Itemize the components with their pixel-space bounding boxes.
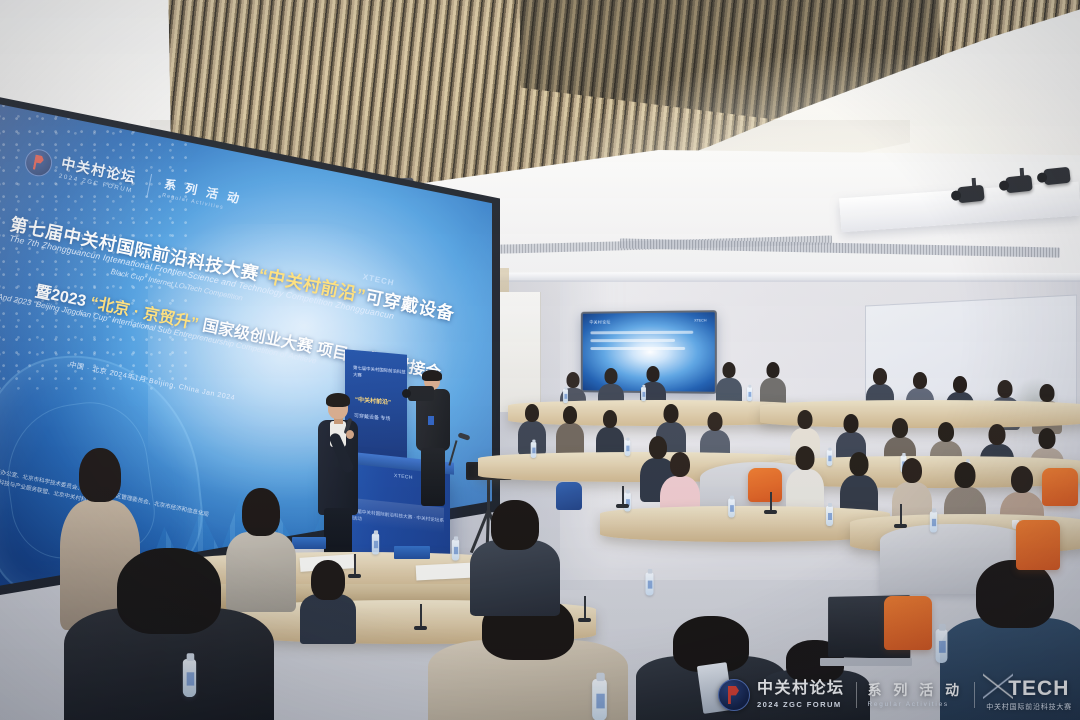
led-headline-tail: 可穿戴设备 [364, 286, 457, 324]
program-booklet [292, 537, 326, 549]
spotlight-icon [1043, 167, 1071, 186]
document-paper [416, 562, 475, 580]
water-bottle [531, 442, 537, 458]
rollup-line-1: 第七届中关村国际前沿科技大赛 [353, 364, 407, 383]
water-bottle [826, 506, 833, 526]
led-brand-lockup: 中关村论坛 2024 ZGC FORUM 系 列 活 动 Regular Act… [23, 147, 244, 217]
chair [1042, 468, 1078, 506]
water-bottle [624, 493, 631, 512]
audience-person [760, 362, 786, 406]
watermark-series-lockup: 系 列 活 动 Regular Activities [868, 683, 964, 708]
operator-hair [422, 370, 442, 381]
audience-person [596, 410, 624, 458]
watermark-zgc-lockup: 中关村论坛 2024 ZGC FORUM [718, 679, 845, 711]
audience-person [556, 406, 584, 454]
conference-hall-photo: 中关村论坛 2024 ZGC FORUM 系 列 活 动 Regular Act… [0, 0, 1080, 720]
watermark-series-cn: 系 列 活 动 [868, 683, 964, 697]
chair [556, 482, 582, 510]
foreground-person [300, 560, 356, 640]
water-bottle [747, 387, 752, 401]
watermark-logo-bar: 中关村论坛 2024 ZGC FORUM 系 列 活 动 Regular Act… [718, 678, 1072, 712]
camera-operator [412, 372, 458, 512]
watermark-series-en: Regular Activities [868, 701, 964, 708]
xtech-sub-cn: 中关村国际前沿科技大赛 [986, 702, 1072, 712]
water-bottle [827, 450, 833, 466]
water-bottle [372, 534, 379, 555]
program-booklet [394, 546, 430, 559]
spotlight-icon [1005, 175, 1033, 194]
watermark-brand-en: 2024 ZGC FORUM [757, 700, 845, 709]
watermark-brand-cn: 中关村论坛 [757, 681, 845, 697]
rollup-line-2: “中关村前沿” [355, 394, 391, 406]
speaker-hair [326, 393, 350, 407]
x-star-icon [983, 673, 1013, 699]
chair [1016, 520, 1060, 570]
zgc-seal-icon [23, 147, 55, 179]
operator-legs [421, 448, 445, 506]
water-bottle [930, 512, 937, 533]
speaker-hand [346, 430, 354, 439]
xtech-wordmark: TECH [986, 678, 1072, 699]
operator-badge [428, 416, 434, 425]
watermark-divider [856, 682, 857, 708]
watermark-xtech-lockup: TECH 中关村国际前沿科技大赛 [986, 678, 1072, 712]
watermark-divider [974, 682, 975, 708]
desk-row-front [600, 506, 890, 542]
foreground-person-northface [64, 548, 274, 720]
video-camera-icon [408, 386, 434, 401]
led-meta-line: 中国 · 北京 2024年1月 Beijing, China Jan 2024 [69, 360, 237, 403]
water-bottle [563, 389, 568, 403]
water-bottle [728, 499, 735, 518]
secondary-display-logo: 中关村论坛 [589, 319, 610, 325]
water-bottle [452, 540, 459, 561]
foreground-person [470, 500, 560, 612]
audience-person [786, 446, 824, 512]
water-bottle [625, 440, 631, 456]
water-bottle [645, 573, 653, 596]
logo-divider [146, 173, 152, 197]
secondary-display-corner: XTECH [694, 318, 706, 322]
spotlight-icon [957, 185, 985, 204]
water-bottle [183, 659, 196, 697]
water-bottle [936, 629, 948, 663]
speaker-person [310, 396, 360, 556]
audience-person [716, 362, 742, 406]
water-bottle [641, 387, 646, 401]
water-bottle [592, 679, 607, 720]
chair [884, 596, 932, 650]
chair [748, 468, 782, 502]
zgc-seal-icon [718, 679, 750, 711]
